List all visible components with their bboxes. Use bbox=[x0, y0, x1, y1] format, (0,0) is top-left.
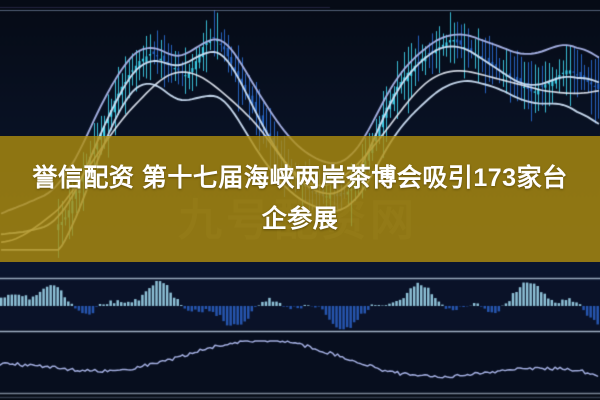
headline-line-1: 誉信配资 第十七届海峡两岸茶博会吸引173家台 bbox=[20, 158, 580, 199]
headline-line-2: 企参展 bbox=[20, 199, 580, 240]
headline-banner: 誉信配资 第十七届海峡两岸茶博会吸引173家台 企参展 bbox=[0, 136, 600, 262]
article-thumbnail: 九号配资网 誉信配资 第十七届海峡两岸茶博会吸引173家台 企参展 bbox=[0, 0, 600, 400]
